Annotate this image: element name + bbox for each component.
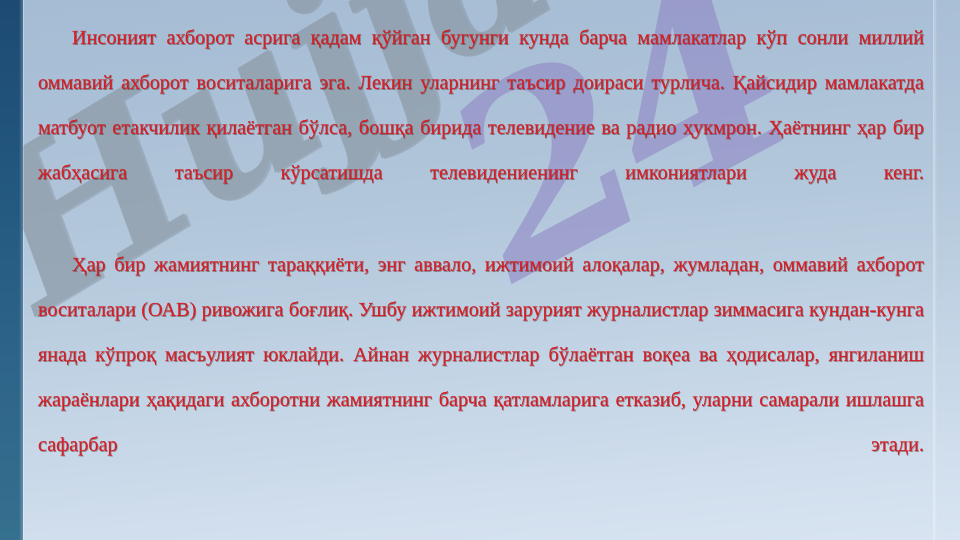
slide-body-text: Инсоният ахборот асрига қадам қўйган буг… <box>38 16 924 513</box>
body-paragraph-1: Инсоният ахборот асрига қадам қўйган буг… <box>38 16 924 241</box>
body-paragraph-2: Ҳар бир жамиятнинг тараққиёти, энг аввал… <box>38 243 924 513</box>
left-accent-highlight <box>19 0 24 540</box>
presentation-slide: Hujjat 24 Инсоният ахборот асрига қадам … <box>0 0 960 540</box>
right-edge-seam <box>933 0 937 540</box>
